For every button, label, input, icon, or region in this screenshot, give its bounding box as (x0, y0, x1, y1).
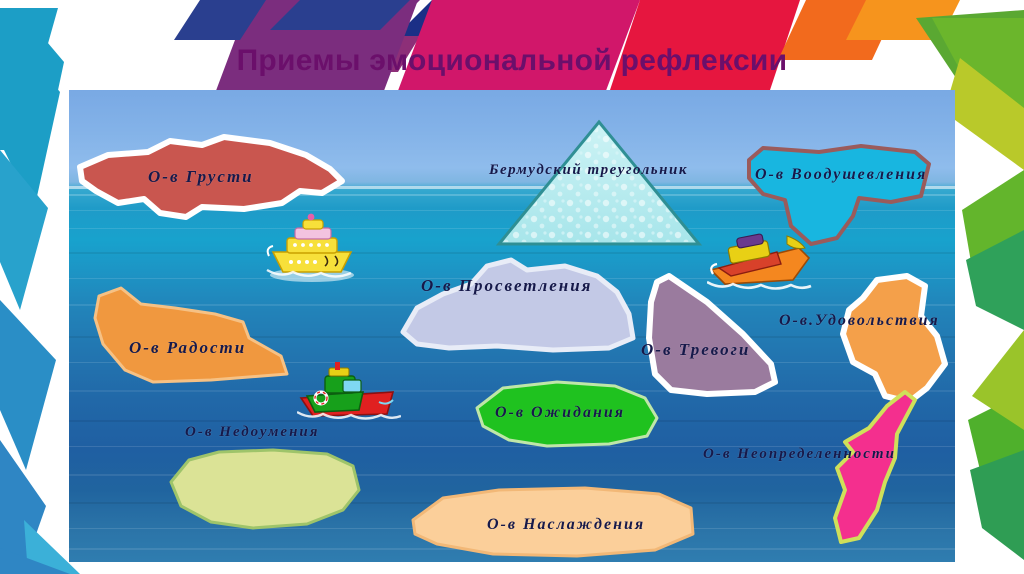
island-delight[interactable]: О-в Наслаждения (407, 482, 699, 562)
ribbon-left-teal (0, 8, 58, 150)
ribbon-left-teal2 (6, 10, 64, 184)
island-joy[interactable]: О-в Радости (91, 282, 301, 392)
boat-green-red-tugboat[interactable] (297, 362, 401, 428)
slide-canvas: Приемы эмоциональной рефлексии О-в Груст… (0, 0, 1024, 574)
island-bermuda-triangle[interactable]: Бермудский треугольник (493, 118, 705, 250)
island-expectation[interactable]: О-в Ожидания (469, 378, 669, 454)
boat-orange-speedboat[interactable] (707, 230, 815, 296)
page-title: Приемы эмоциональной рефлексии (0, 44, 1024, 78)
island-bewilderment[interactable]: О-в Недоумения (165, 448, 365, 538)
boat-yellow-cruise-ship[interactable] (265, 212, 359, 286)
island-enlightenment[interactable]: О-в Просветления (393, 250, 653, 364)
sea-map-photo: О-в Грусти Бермудск (69, 90, 955, 562)
ribbon-top-purple (200, 0, 420, 36)
ribbon-top-magenta (396, 0, 640, 36)
island-uncertainty[interactable]: О-в Неопределенности (819, 386, 939, 556)
